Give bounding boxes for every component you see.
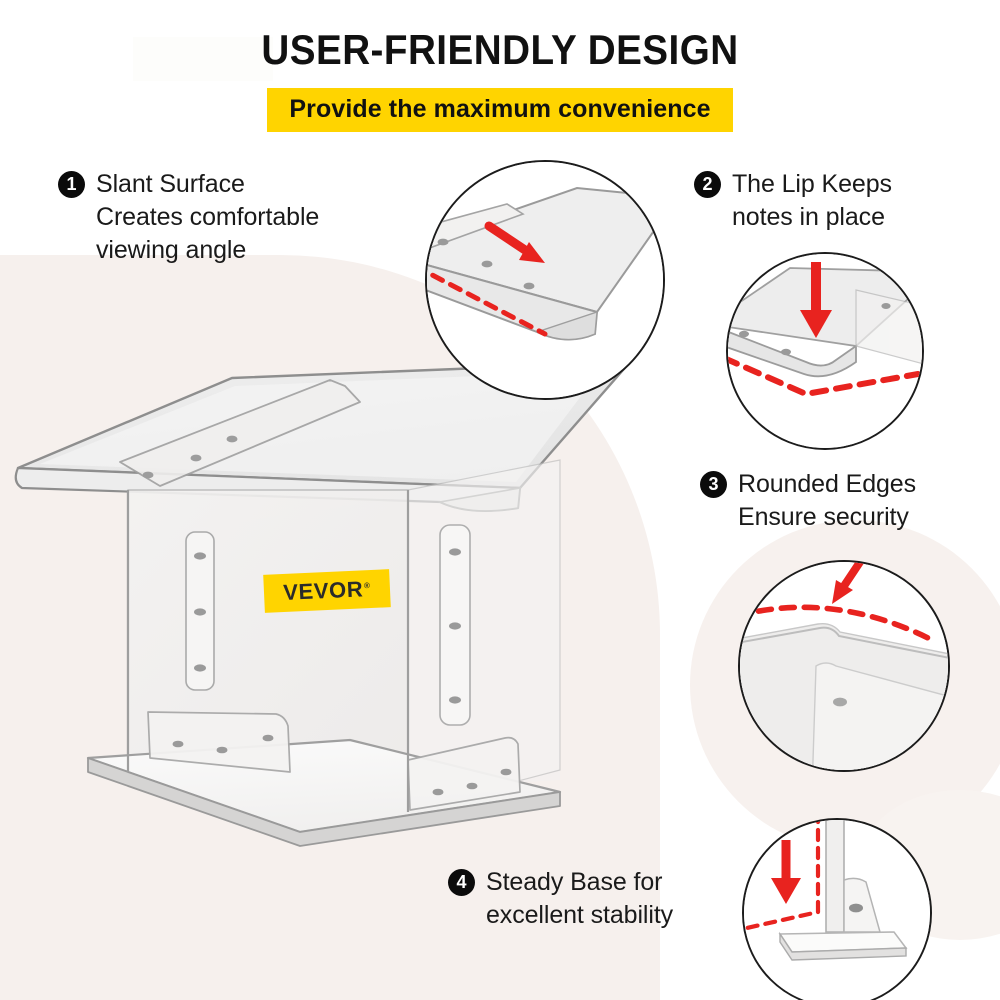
callout-rounded-edges: 3 Rounded Edges Ensure security	[700, 468, 916, 534]
detail-inset-slant-surface	[425, 160, 665, 400]
callout-text-2: The Lip Keeps notes in place	[732, 168, 892, 234]
callout-slant-surface: 1 Slant Surface Creates comfortable view…	[58, 168, 319, 267]
page-title: USER-FRIENDLY DESIGN	[40, 0, 960, 74]
vevor-wordmark: VEVOR®	[283, 576, 372, 606]
callout-text-3: Rounded Edges Ensure security	[738, 468, 916, 534]
infographic-page: USER-FRIENDLY DESIGN Provide the maximum…	[0, 0, 1000, 1000]
callout-number-badge-4: 4	[448, 869, 475, 896]
subtitle-text: Provide the maximum convenience	[267, 88, 732, 132]
vevor-name: VEVOR	[283, 576, 364, 605]
callout-text-1: Slant Surface Creates comfortable viewin…	[96, 168, 319, 267]
product-illustration	[0, 340, 700, 880]
vevor-logo-badge: VEVOR®	[263, 569, 391, 613]
registered-trademark-icon: ®	[364, 581, 371, 590]
callout-text-4: Steady Base for excellent stability	[486, 866, 673, 932]
detail-inset-lip	[726, 252, 924, 450]
callout-lip-keeps-notes: 2 The Lip Keeps notes in place	[694, 168, 892, 234]
header: USER-FRIENDLY DESIGN Provide the maximum…	[0, 0, 1000, 132]
callout-steady-base: 4 Steady Base for excellent stability	[448, 866, 673, 932]
callout-number-badge-3: 3	[700, 471, 727, 498]
subtitle-banner: Provide the maximum convenience	[0, 88, 1000, 132]
callout-number-badge-1: 1	[58, 171, 85, 198]
detail-inset-rounded-edges	[738, 560, 950, 772]
detail-inset-steady-base	[742, 818, 932, 1000]
callout-number-badge-2: 2	[694, 171, 721, 198]
